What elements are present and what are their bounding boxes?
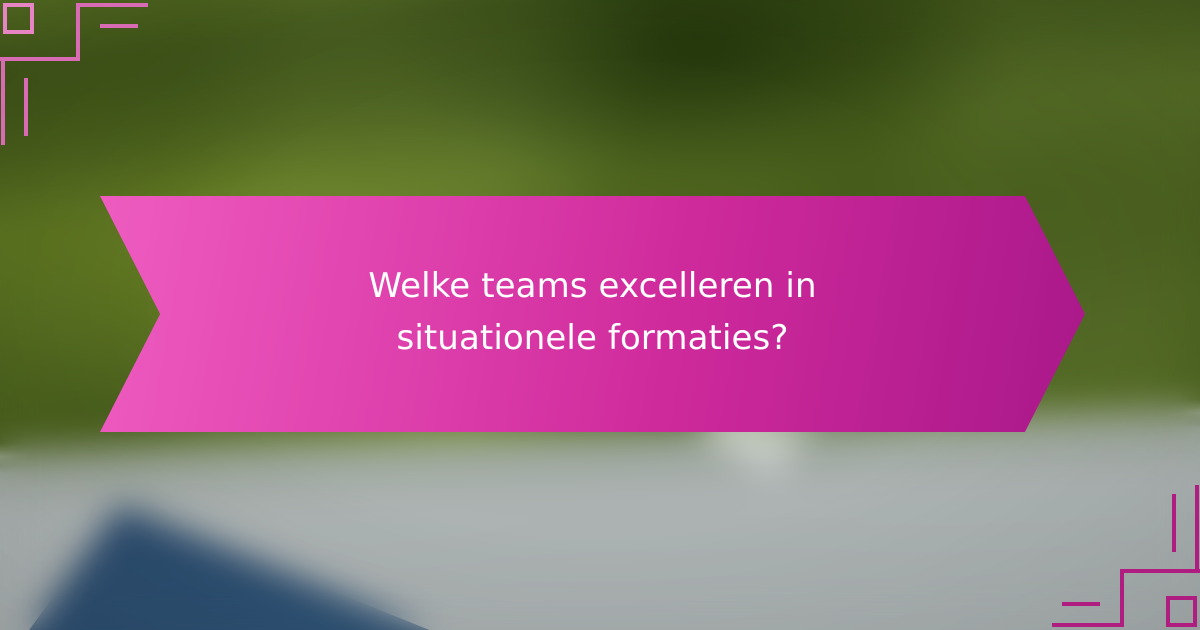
headline-ribbon: Welke teams excelleren in situationele f… <box>100 196 1085 432</box>
corner-line-horizontal-outer <box>1052 623 1120 627</box>
corner-line-vertical-outer <box>1 57 5 145</box>
headline-text: Welke teams excelleren in situationele f… <box>243 261 943 364</box>
corner-line-horizontal-inner <box>1062 602 1100 606</box>
corner-square-icon <box>1166 596 1197 627</box>
corner-line-vertical-inner <box>1172 494 1176 552</box>
corner-frame-top-left <box>0 0 180 180</box>
corner-line-horizontal-outer <box>80 3 148 7</box>
corner-line-vertical-inner <box>24 78 28 136</box>
corner-bracket-horizontal <box>0 57 80 61</box>
banner-canvas: Welke teams excelleren in situationele f… <box>0 0 1200 630</box>
corner-line-vertical-outer <box>1195 485 1199 573</box>
corner-bracket-vertical <box>1120 569 1124 627</box>
corner-bracket-vertical <box>76 3 80 61</box>
corner-line-horizontal-inner <box>100 24 138 28</box>
corner-frame-bottom-right <box>1020 450 1200 630</box>
corner-square-icon <box>3 3 34 34</box>
corner-bracket-horizontal <box>1120 569 1200 573</box>
